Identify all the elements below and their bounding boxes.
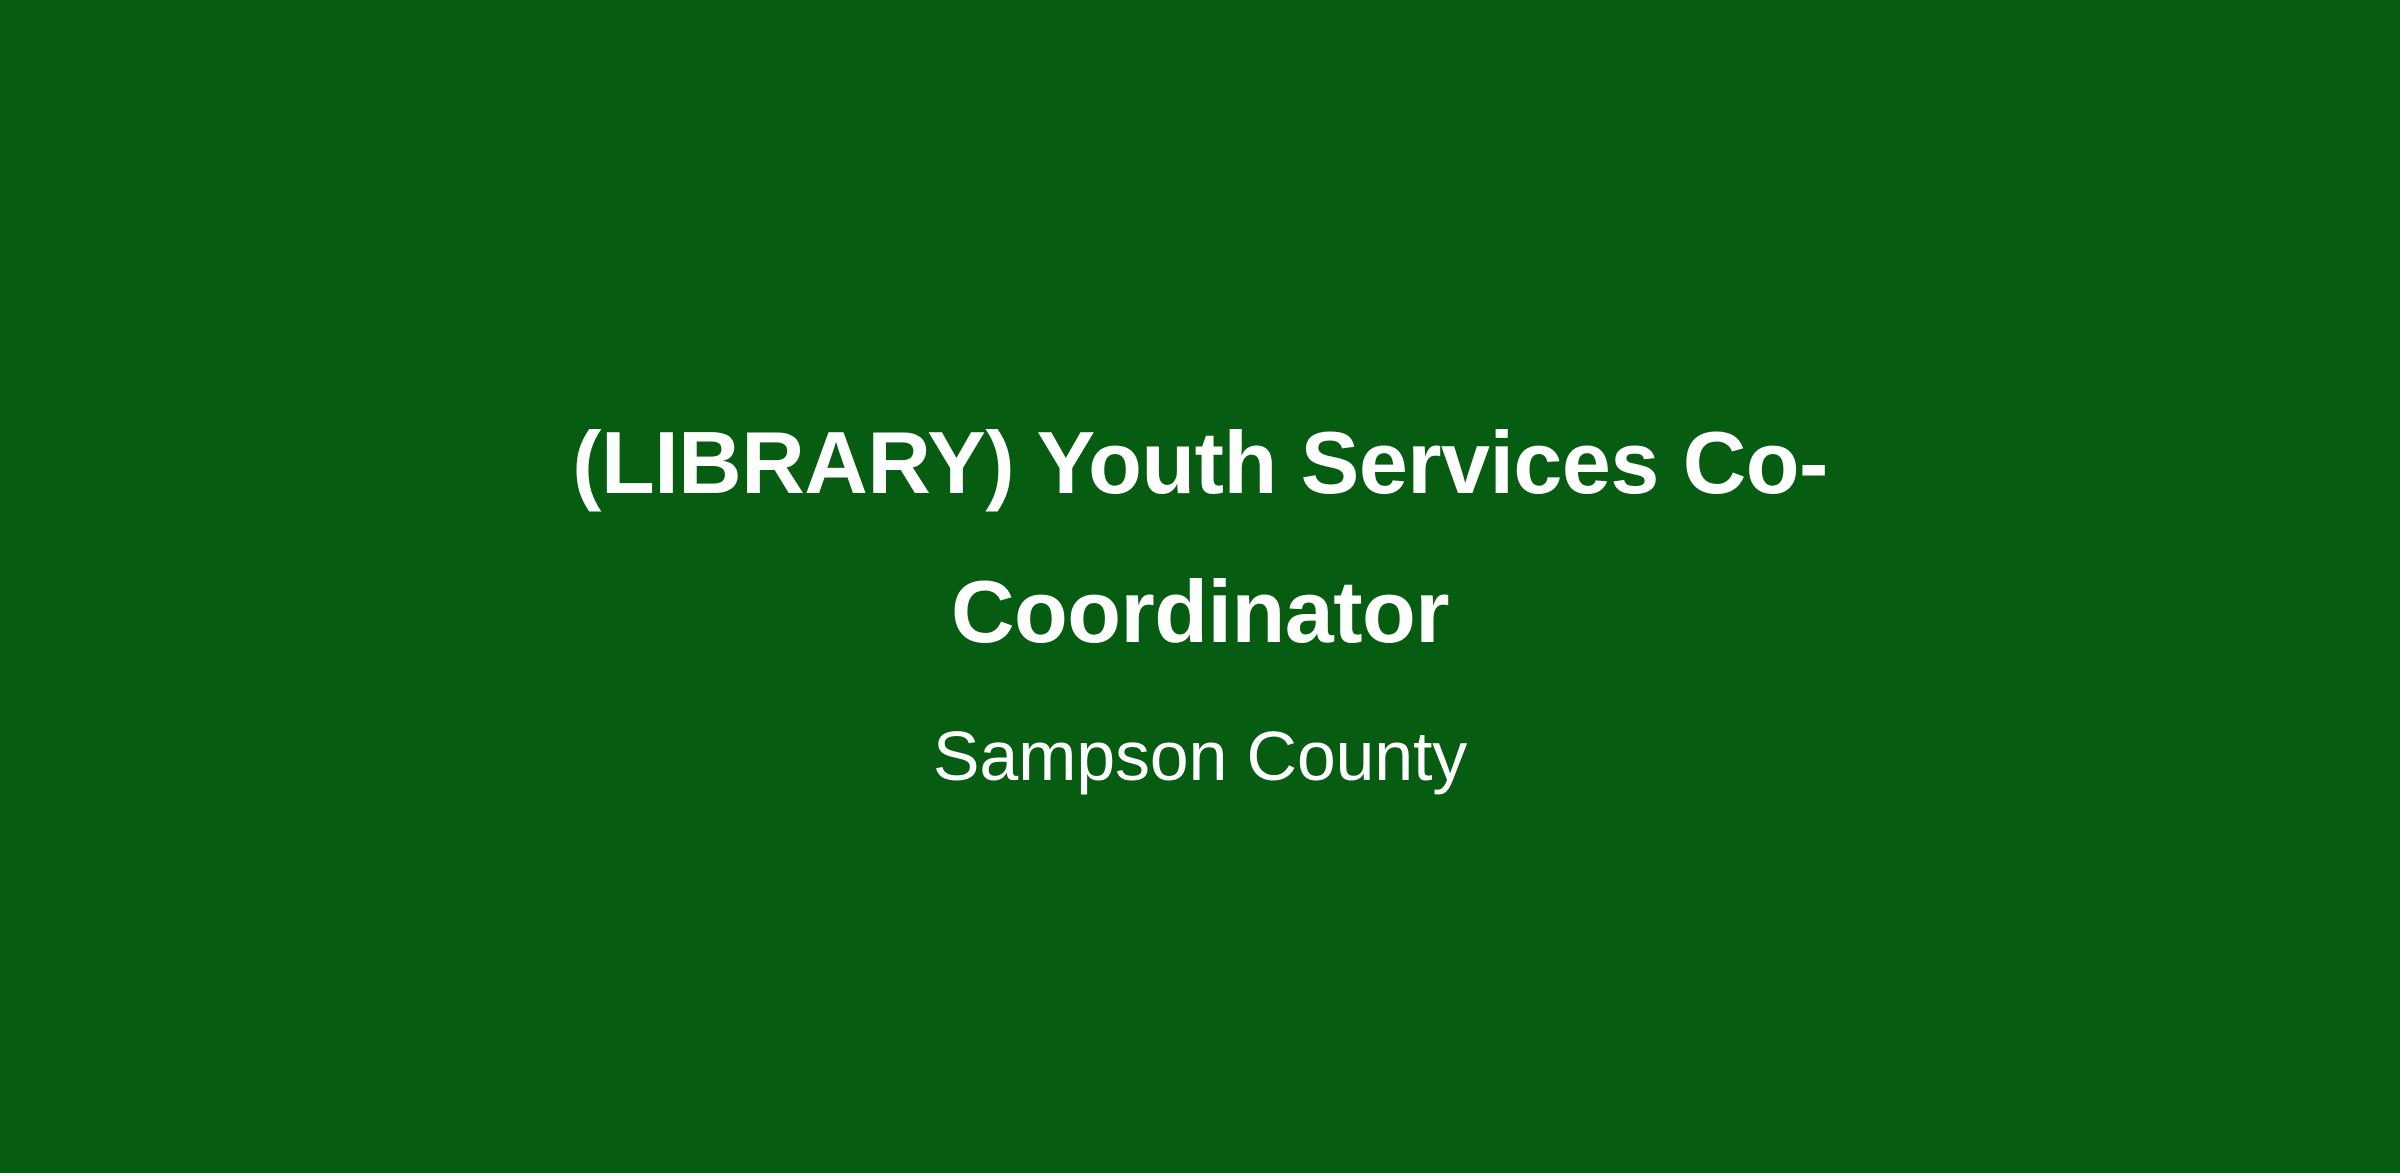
card-content: (LIBRARY) Youth Services Co-Coordinator … bbox=[0, 0, 2400, 798]
job-posting-card: (LIBRARY) Youth Services Co-Coordinator … bbox=[0, 0, 2400, 1173]
employer-location-subtitle: Sampson County bbox=[933, 714, 1467, 798]
job-title: (LIBRARY) Youth Services Co-Coordinator bbox=[390, 388, 2010, 686]
